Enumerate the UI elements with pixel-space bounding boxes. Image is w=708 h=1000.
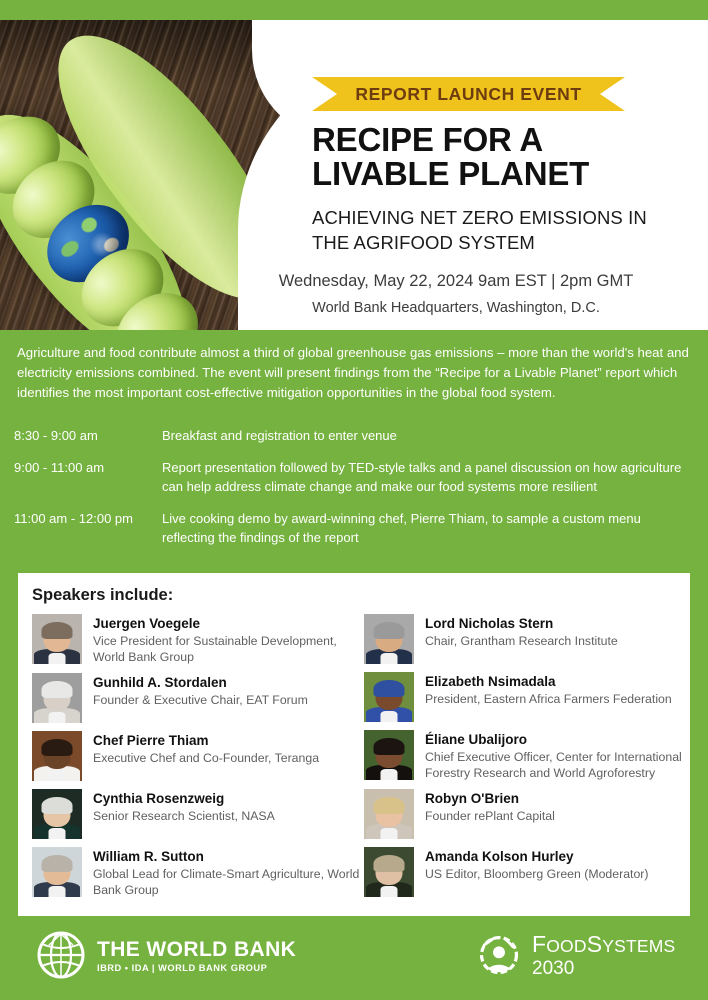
report-launch-ribbon: REPORT LAUNCH EVENT [312,77,625,111]
speaker-item: Gunhild A. StordalenFounder & Executive … [32,673,362,723]
speaker-portrait [364,672,414,722]
speaker-role: Vice President for Sustainable Developme… [93,633,362,665]
speaker-portrait [32,847,82,897]
speaker-item: Amanda Kolson HurleyUS Editor, Bloomberg… [364,847,690,897]
speaker-photo [364,672,414,722]
subtitle-line-1: ACHIEVING NET ZERO EMISSIONS IN [312,205,690,230]
speaker-item: Cynthia RosenzweigSenior Research Scient… [32,789,362,839]
page-subtitle: ACHIEVING NET ZERO EMISSIONS IN THE AGRI… [312,205,690,255]
speaker-portrait [364,614,414,664]
food-systems-2030-logo: FOODSYSTEMS 2030 [476,932,675,979]
speaker-name: Gunhild A. Stordalen [93,674,362,691]
hero-section: REPORT LAUNCH EVENT RECIPE FOR A LIVABLE… [0,20,708,330]
speakers-heading: Speakers include: [32,586,173,605]
event-datetime: Wednesday, May 22, 2024 9am EST | 2pm GM… [216,272,696,291]
speaker-item: Elizabeth NsimadalaPresident, Eastern Af… [364,672,690,722]
ribbon-label: REPORT LAUNCH EVENT [355,84,581,105]
speaker-photo [32,731,82,781]
footer-logos: THE WORLD BANK IBRD • IDA | WORLD BANK G… [0,916,708,1000]
agenda-time: 9:00 - 11:00 am [14,458,162,496]
food-systems-name: FOODSYSTEMS [532,932,675,958]
agenda-time: 11:00 am - 12:00 pm [14,509,162,547]
world-bank-logo: THE WORLD BANK IBRD • IDA | WORLD BANK G… [36,930,296,980]
food-systems-year: 2030 [532,958,675,979]
speaker-name: Éliane Ubalijoro [425,731,690,748]
speaker-role: Founder & Executive Chair, EAT Forum [93,692,362,708]
agenda-list: 8:30 - 9:00 amBreakfast and registration… [14,426,694,560]
title-line-1: RECIPE FOR A [312,123,696,157]
speaker-name: Chef Pierre Thiam [93,732,362,749]
agenda-description: Report presentation followed by TED-styl… [162,458,694,496]
speaker-item: Robyn O'BrienFounder rePlant Capital [364,789,690,839]
world-bank-name: THE WORLD BANK [97,938,296,961]
speaker-item: Éliane UbalijoroChief Executive Officer,… [364,730,690,781]
speaker-name: Lord Nicholas Stern [425,615,690,632]
speaker-role: Global Lead for Climate-Smart Agricultur… [93,866,362,898]
speaker-role: Executive Chef and Co-Founder, Teranga [93,750,362,766]
speaker-photo [364,847,414,897]
speaker-name: Amanda Kolson Hurley [425,848,690,865]
event-venue: World Bank Headquarters, Washington, D.C… [216,300,696,316]
agenda-description: Breakfast and registration to enter venu… [162,426,694,445]
speaker-role: Founder rePlant Capital [425,808,690,824]
speaker-role: Senior Research Scientist, NASA [93,808,362,824]
event-flyer: REPORT LAUNCH EVENT RECIPE FOR A LIVABLE… [0,0,708,1000]
speaker-photo [32,673,82,723]
speaker-photo [364,789,414,839]
agenda-row: 11:00 am - 12:00 pmLive cooking demo by … [14,509,694,547]
speakers-column-left: Juergen VoegeleVice President for Sustai… [32,614,362,906]
speakers-column-right: Lord Nicholas SternChair, Grantham Resea… [364,614,690,905]
agenda-description: Live cooking demo by award-winning chef,… [162,509,694,547]
agenda-time: 8:30 - 9:00 am [14,426,162,445]
world-bank-subtitle: IBRD • IDA | WORLD BANK GROUP [97,963,296,973]
globe-icon [36,930,86,980]
agenda-row: 9:00 - 11:00 amReport presentation follo… [14,458,694,496]
speaker-portrait [364,789,414,839]
speaker-portrait [32,614,82,664]
speaker-role: Chief Executive Officer, Center for Inte… [425,749,690,781]
speaker-portrait [364,730,414,780]
speaker-portrait [364,847,414,897]
speaker-portrait [32,789,82,839]
speaker-portrait [32,731,82,781]
speaker-role: Chair, Grantham Research Institute [425,633,690,649]
speaker-name: Robyn O'Brien [425,790,690,807]
speaker-portrait [32,673,82,723]
speaker-photo [32,789,82,839]
page-title: RECIPE FOR A LIVABLE PLANET [312,123,696,191]
description-and-agenda-section: Agriculture and food contribute almost a… [0,332,708,572]
speaker-item: Lord Nicholas SternChair, Grantham Resea… [364,614,690,664]
agenda-row: 8:30 - 9:00 amBreakfast and registration… [14,426,694,445]
grain-circle-icon [476,933,522,979]
speaker-name: Cynthia Rosenzweig [93,790,362,807]
title-line-2: LIVABLE PLANET [312,157,696,191]
speaker-photo [364,730,414,780]
speaker-photo [32,614,82,664]
speaker-item: William R. SuttonGlobal Lead for Climate… [32,847,362,898]
subtitle-line-2: THE AGRIFOOD SYSTEM [312,230,690,255]
speaker-item: Juergen VoegeleVice President for Sustai… [32,614,362,665]
speaker-photo [32,847,82,897]
speaker-item: Chef Pierre ThiamExecutive Chef and Co-F… [32,731,362,781]
speaker-name: Elizabeth Nsimadala [425,673,690,690]
speaker-photo [364,614,414,664]
speakers-card: Speakers include: Juergen VoegeleVice Pr… [18,573,690,916]
speaker-role: US Editor, Bloomberg Green (Moderator) [425,866,690,882]
speaker-name: Juergen Voegele [93,615,362,632]
speaker-name: William R. Sutton [93,848,362,865]
event-description: Agriculture and food contribute almost a… [17,343,693,403]
speaker-role: President, Eastern Africa Farmers Federa… [425,691,690,707]
